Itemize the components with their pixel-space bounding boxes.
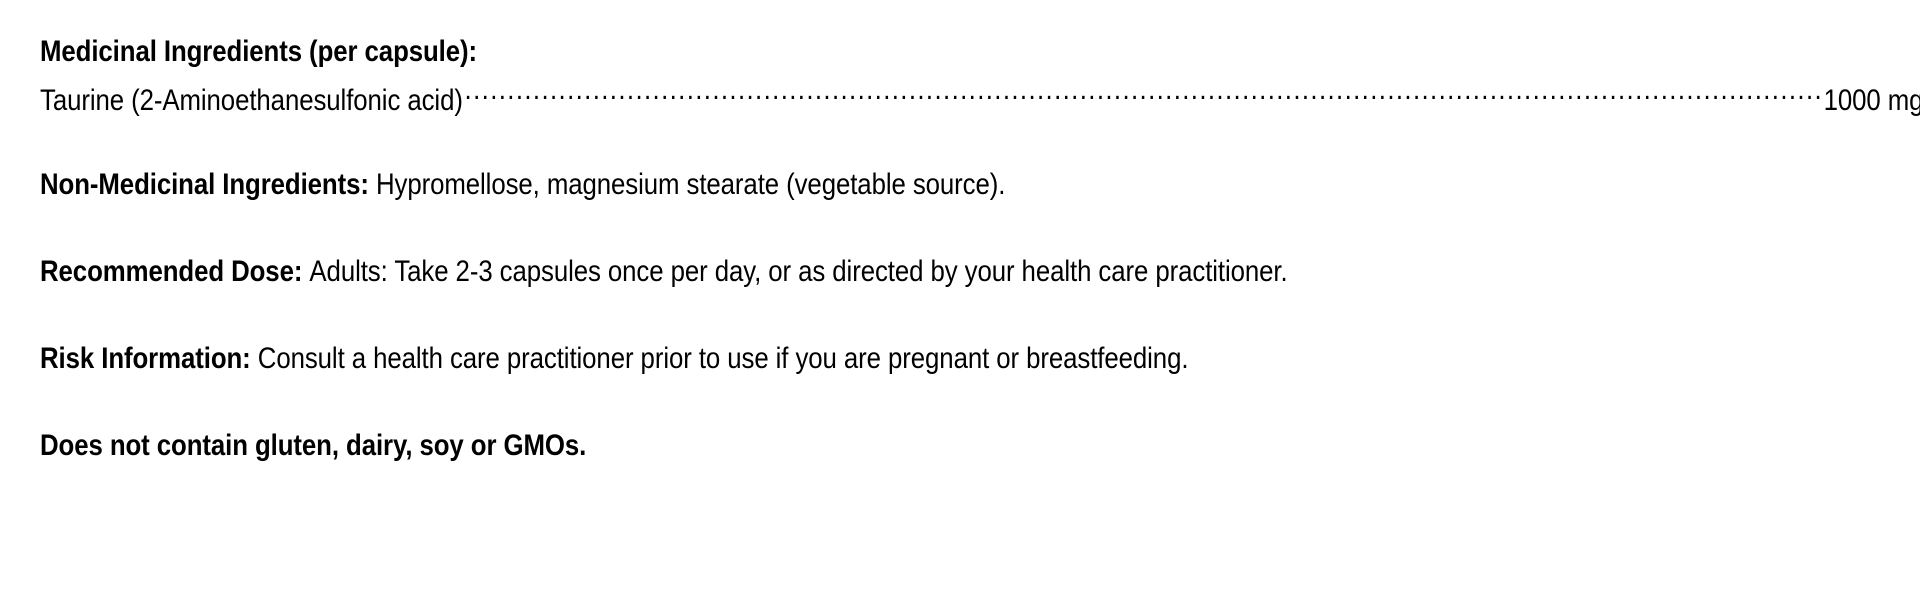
ingredient-name: Taurine (2-Aminoethanesulfonic acid) — [40, 83, 463, 118]
non-medicinal-ingredients-text: Hypromellose, magnesium stearate (vegeta… — [376, 168, 1005, 201]
recommended-dose-line: Recommended Dose: Adults: Take 2-3 capsu… — [40, 254, 1622, 289]
non-medicinal-ingredients-line: Non-Medicinal Ingredients: Hypromellose,… — [40, 167, 1622, 202]
supplement-facts-panel: Medicinal Ingredients (per capsule): Tau… — [0, 0, 1920, 616]
medicinal-ingredients-heading: Medicinal Ingredients (per capsule): — [40, 34, 1622, 69]
free-from-statement: Does not contain gluten, dairy, soy or G… — [40, 428, 1622, 463]
medicinal-ingredient-row: Taurine (2-Aminoethanesulfonic acid) 100… — [40, 80, 1920, 118]
recommended-dose-text: Adults: Take 2-3 capsules once per day, … — [309, 255, 1287, 288]
recommended-dose-heading: Recommended Dose: — [40, 255, 302, 288]
dot-leader — [465, 80, 1822, 110]
ingredient-amount: 1000 mg — [1824, 83, 1920, 118]
risk-information-text: Consult a health care practitioner prior… — [258, 342, 1189, 375]
risk-information-heading: Risk Information: — [40, 342, 251, 375]
risk-information-line: Risk Information: Consult a health care … — [40, 341, 1622, 376]
non-medicinal-ingredients-heading: Non-Medicinal Ingredients: — [40, 168, 369, 201]
